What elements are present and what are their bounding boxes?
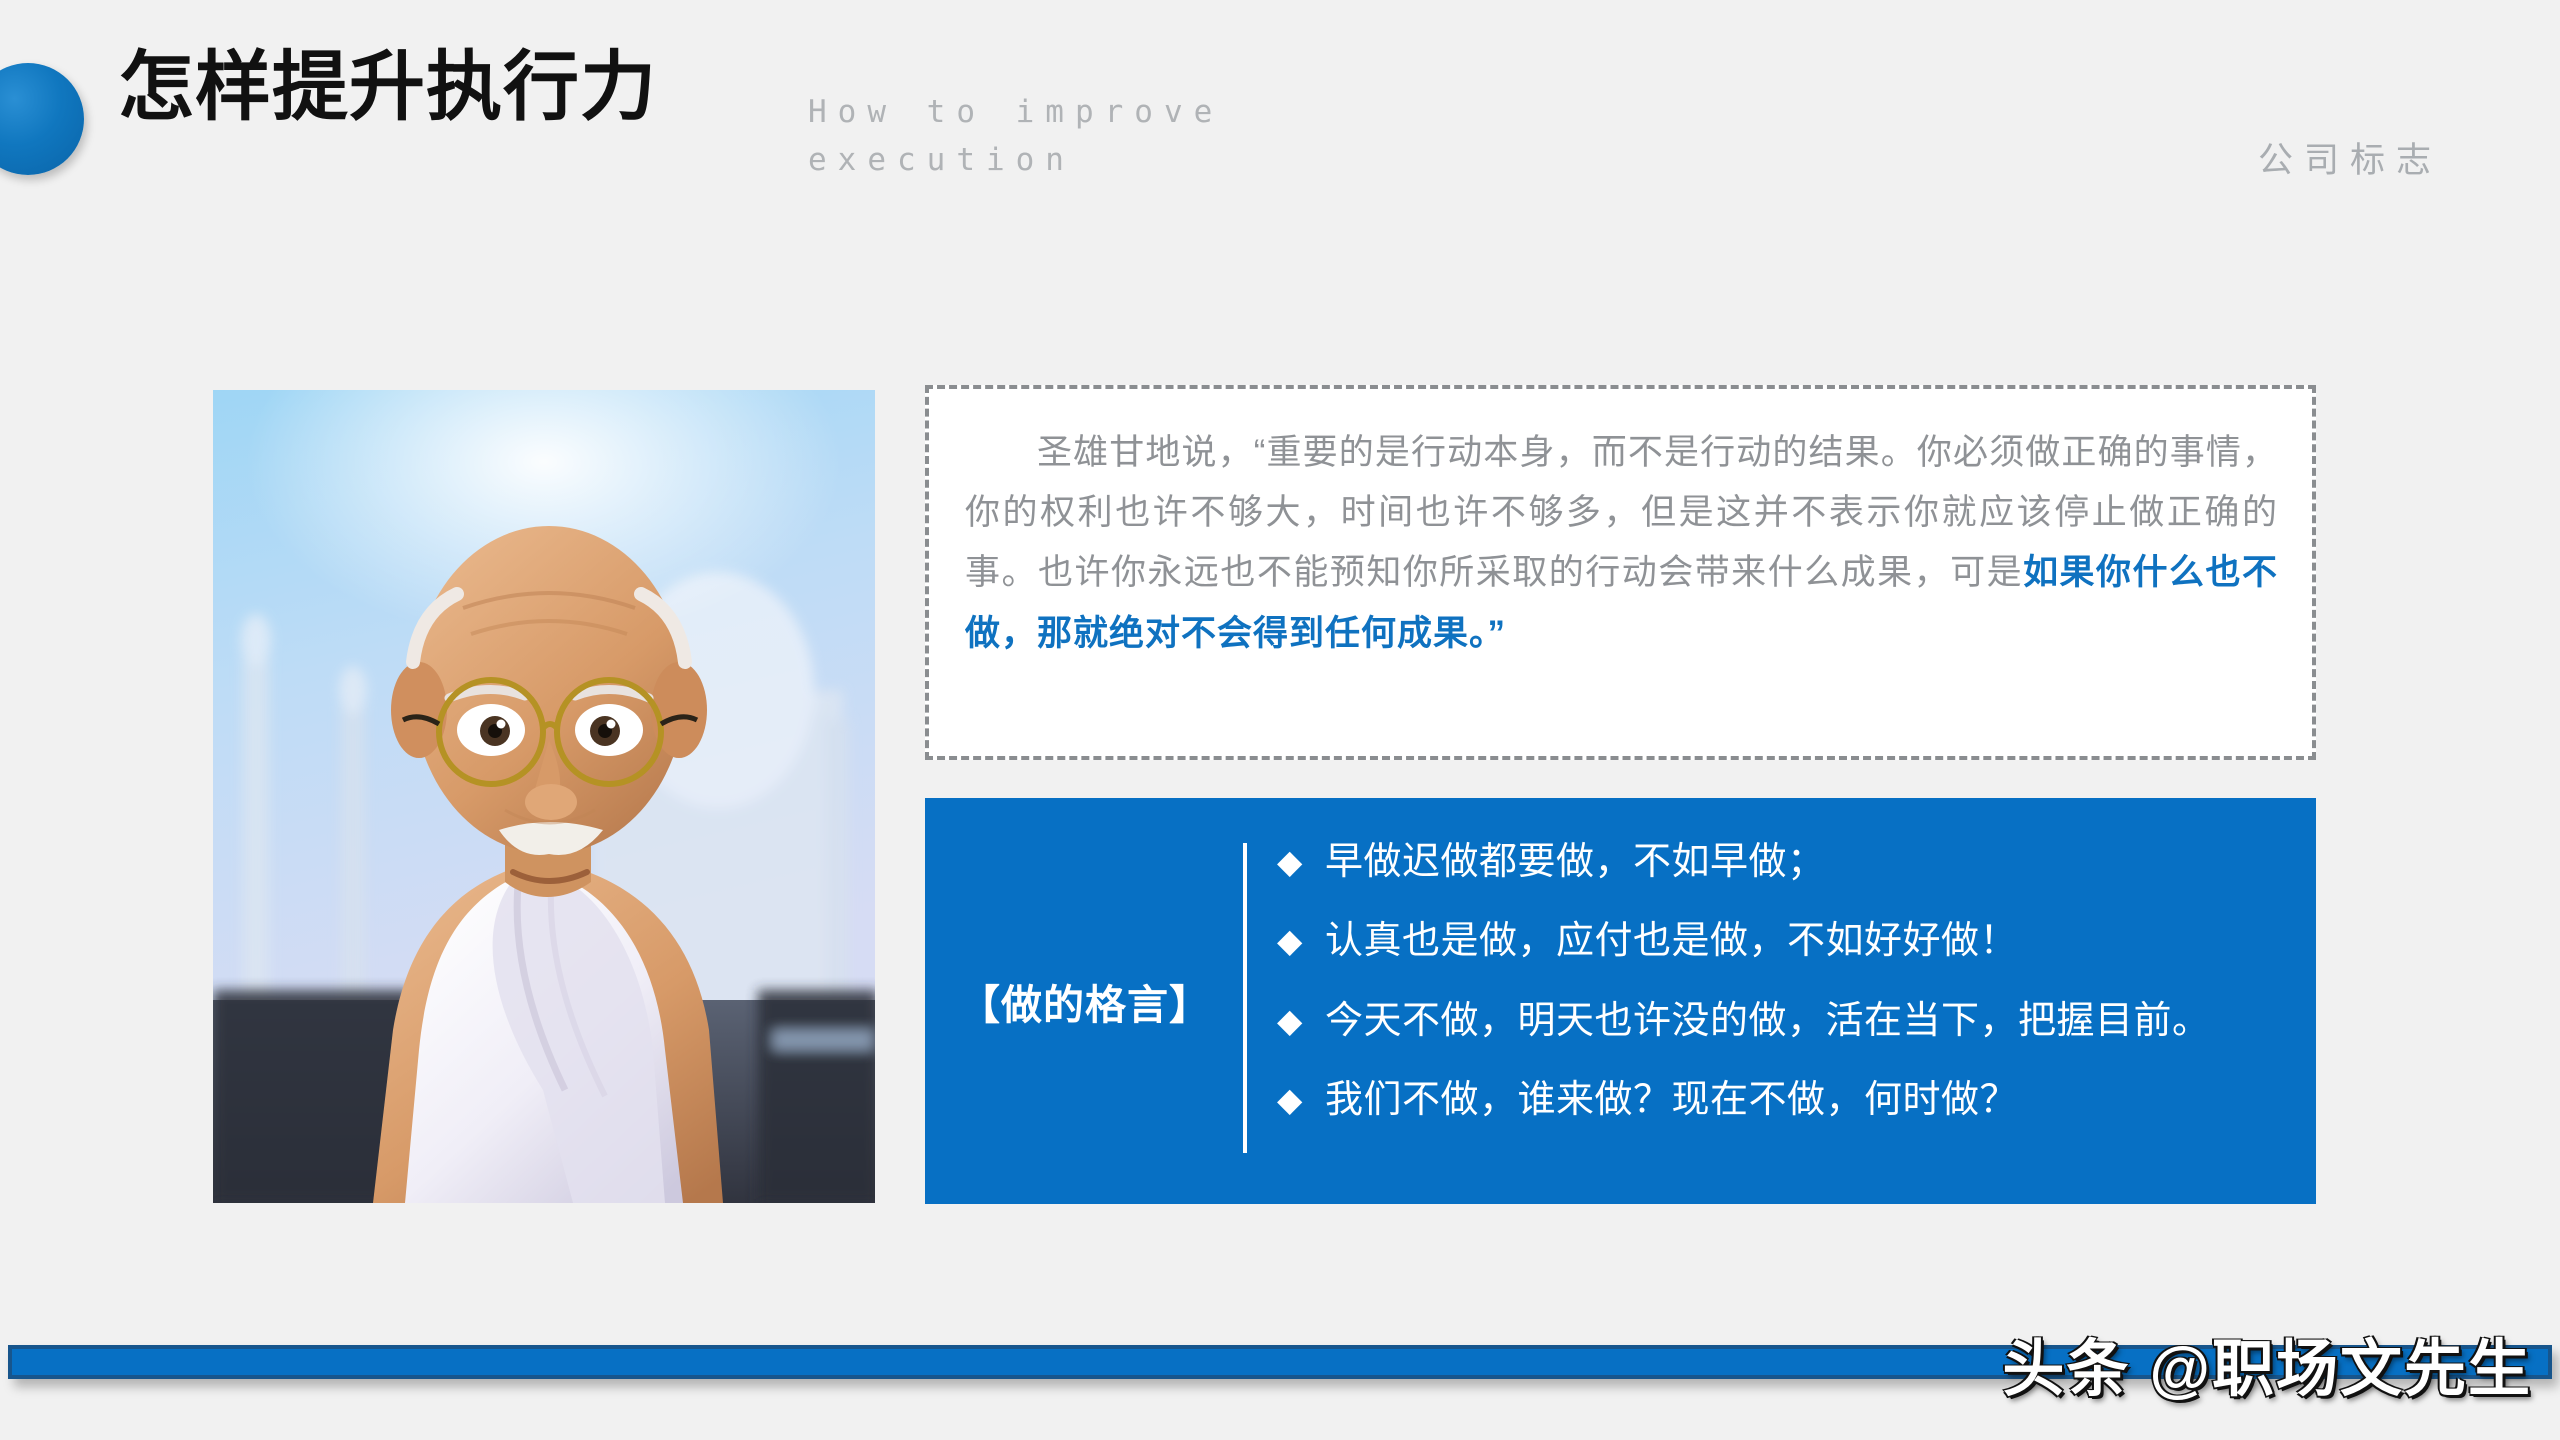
diamond-bullet-icon: ◆ <box>1277 838 1325 886</box>
maxim-text-3: 今天不做，明天也许没的做，活在当下，把握目前。 <box>1325 997 2300 1046</box>
maxims-label: 【做的格言】 <box>935 798 1235 1204</box>
slide-root: 怎样提升执行力 How to improve execution 公司标志 <box>0 0 2560 1440</box>
diamond-bullet-icon: ◆ <box>1277 997 1325 1045</box>
diamond-bullet-icon: ◆ <box>1277 917 1325 965</box>
maxim-text-2: 认真也是做，应付也是做，不如好好做！ <box>1325 917 2300 966</box>
list-item: ◆ 早做迟做都要做，不如早做； <box>1277 838 2300 887</box>
quote-paragraph: 圣雄甘地说，“重要的是行动本身，而不是行动的结果。你必须做正确的事情，你的权利也… <box>965 423 2278 664</box>
company-logo-placeholder: 公司标志 <box>2258 132 2442 183</box>
diamond-bullet-icon: ◆ <box>1277 1076 1325 1124</box>
maxims-list: ◆ 早做迟做都要做，不如早做； ◆ 认真也是做，应付也是做，不如好好做！ ◆ 今… <box>1277 838 2300 1156</box>
page-title: 怎样提升执行力 <box>118 48 657 128</box>
gandhi-portrait-illustration <box>213 390 875 1203</box>
list-item: ◆ 认真也是做，应付也是做，不如好好做！ <box>1277 917 2300 966</box>
maxim-text-4: 我们不做，谁来做？现在不做，何时做？ <box>1325 1076 2300 1125</box>
gandhi-quote-box: 圣雄甘地说，“重要的是行动本身，而不是行动的结果。你必须做正确的事情，你的权利也… <box>925 385 2316 760</box>
list-item: ◆ 今天不做，明天也许没的做，活在当下，把握目前。 <box>1277 997 2300 1046</box>
watermark-text: 头条 @职场文先生 <box>2002 1318 2532 1408</box>
header-accent-circle <box>0 63 84 175</box>
page-subtitle: How to improve execution <box>808 88 1248 184</box>
gandhi-portrait-image <box>213 390 875 1203</box>
maxims-panel: 【做的格言】 ◆ 早做迟做都要做，不如早做； ◆ 认真也是做，应付也是做，不如好… <box>925 798 2316 1204</box>
maxim-text-1: 早做迟做都要做，不如早做； <box>1325 838 2300 887</box>
maxims-divider <box>1243 843 1247 1153</box>
list-item: ◆ 我们不做，谁来做？现在不做，何时做？ <box>1277 1076 2300 1125</box>
